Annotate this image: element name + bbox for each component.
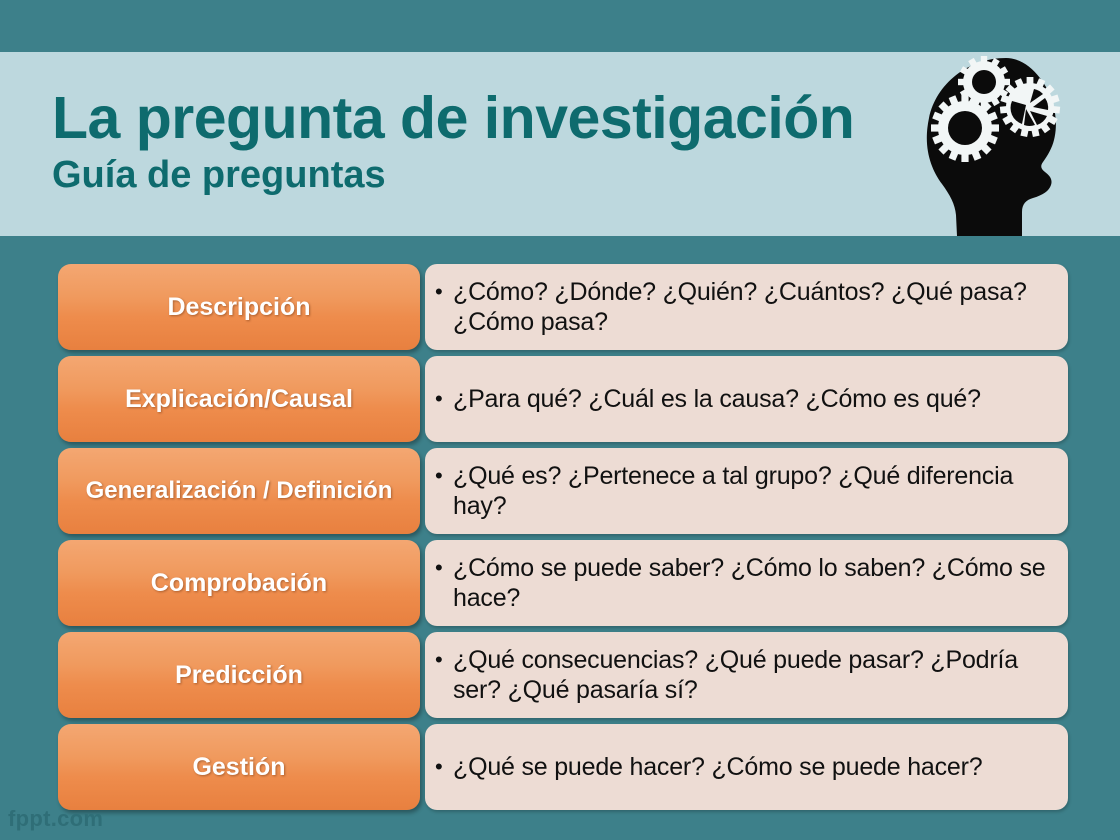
category-label: Explicación/Causal — [125, 385, 353, 413]
category-chip-explicacion-causal[interactable]: Explicación/Causal — [58, 356, 420, 442]
category-label: Predicción — [175, 661, 303, 689]
question-text: ¿Qué es? ¿Pertenece a tal grupo? ¿Qué di… — [453, 461, 1050, 521]
category-chip-generalizacion-definicion[interactable]: Generalización / Definición — [58, 448, 420, 534]
watermark-fppt: fppt.com — [8, 806, 103, 832]
header-text-group: La pregunta de investigación Guía de pre… — [52, 88, 854, 196]
slide-canvas: La pregunta de investigación Guía de pre… — [0, 0, 1120, 840]
category-chip-prediccion[interactable]: Predicción — [58, 632, 420, 718]
bullet-icon: • — [435, 384, 453, 414]
table-row: Comprobación • ¿Cómo se puede saber? ¿Có… — [0, 540, 1120, 626]
category-label: Descripción — [167, 293, 310, 321]
question-text: ¿Cómo? ¿Dónde? ¿Quién? ¿Cuántos? ¿Qué pa… — [453, 277, 1050, 337]
question-box-descripcion[interactable]: • ¿Cómo? ¿Dónde? ¿Quién? ¿Cuántos? ¿Qué … — [425, 264, 1068, 350]
bullet-icon: • — [435, 752, 453, 782]
category-chip-comprobacion[interactable]: Comprobación — [58, 540, 420, 626]
page-subtitle: Guía de preguntas — [52, 156, 854, 196]
table-row: Gestión • ¿Qué se puede hacer? ¿Cómo se … — [0, 724, 1120, 810]
page-title: La pregunta de investigación — [52, 88, 854, 148]
question-box-prediccion[interactable]: • ¿Qué consecuencias? ¿Qué puede pasar? … — [425, 632, 1068, 718]
category-label: Comprobación — [151, 569, 327, 597]
category-label: Gestión — [192, 753, 285, 781]
question-box-generalizacion-definicion[interactable]: • ¿Qué es? ¿Pertenece a tal grupo? ¿Qué … — [425, 448, 1068, 534]
table-row: Descripción • ¿Cómo? ¿Dónde? ¿Quién? ¿Cu… — [0, 264, 1120, 350]
question-text: ¿Para qué? ¿Cuál es la causa? ¿Cómo es q… — [453, 384, 1050, 414]
table-row: Generalización / Definición • ¿Qué es? ¿… — [0, 448, 1120, 534]
question-box-explicacion-causal[interactable]: • ¿Para qué? ¿Cuál es la causa? ¿Cómo es… — [425, 356, 1068, 442]
question-text: ¿Qué consecuencias? ¿Qué puede pasar? ¿P… — [453, 645, 1050, 705]
question-guide-table: Descripción • ¿Cómo? ¿Dónde? ¿Quién? ¿Cu… — [0, 264, 1120, 816]
question-text: ¿Cómo se puede saber? ¿Cómo lo saben? ¿C… — [453, 553, 1050, 613]
bullet-icon: • — [435, 277, 453, 307]
category-label: Generalización / Definición — [86, 478, 393, 505]
question-box-gestion[interactable]: • ¿Qué se puede hacer? ¿Cómo se puede ha… — [425, 724, 1068, 810]
category-chip-descripcion[interactable]: Descripción — [58, 264, 420, 350]
question-box-comprobacion[interactable]: • ¿Cómo se puede saber? ¿Cómo lo saben? … — [425, 540, 1068, 626]
table-row: Explicación/Causal • ¿Para qué? ¿Cuál es… — [0, 356, 1120, 442]
bullet-icon: • — [435, 461, 453, 491]
bullet-icon: • — [435, 645, 453, 675]
table-row: Predicción • ¿Qué consecuencias? ¿Qué pu… — [0, 632, 1120, 718]
question-text: ¿Qué se puede hacer? ¿Cómo se puede hace… — [453, 752, 1050, 782]
category-chip-gestion[interactable]: Gestión — [58, 724, 420, 810]
bullet-icon: • — [435, 553, 453, 583]
